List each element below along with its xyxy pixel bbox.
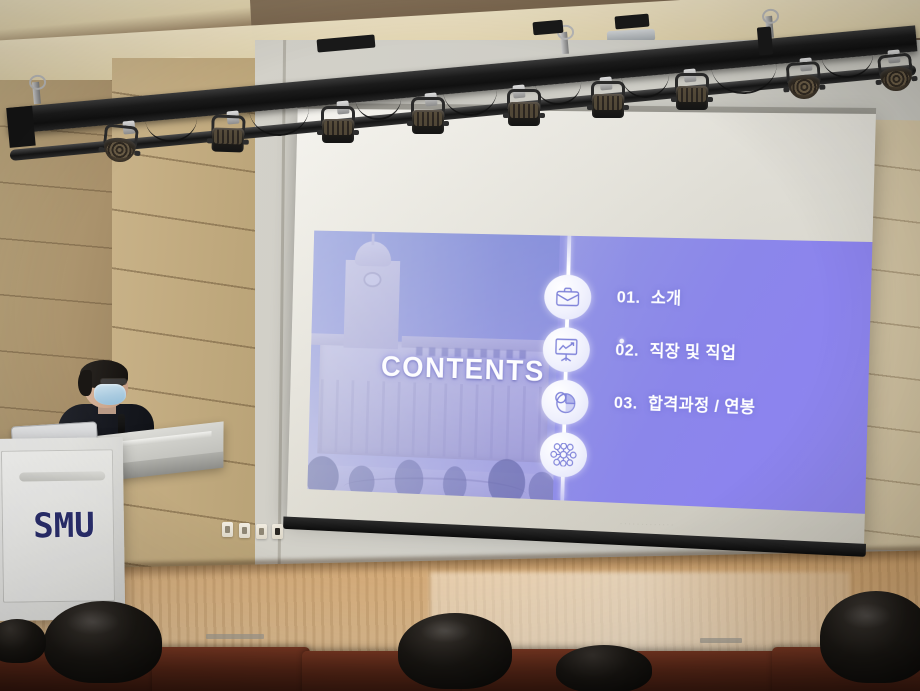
seat-row-label xyxy=(700,638,742,643)
contents-item-01[interactable]: 01.소개 xyxy=(617,283,682,309)
audience-head-highlight xyxy=(842,603,892,629)
projection-screen: CONTENTS xyxy=(287,109,876,544)
item-number: 02. xyxy=(615,340,639,360)
wall-data-port-icon[interactable] xyxy=(272,524,283,539)
podium-front-panel: SMU xyxy=(1,449,115,603)
briefcase-icon[interactable] xyxy=(544,274,592,320)
spotlight-icon xyxy=(672,73,712,115)
spotlight-icon xyxy=(588,81,628,123)
spotlight-icon xyxy=(874,52,918,98)
spotlight-icon xyxy=(504,89,544,131)
truss-joint-plate xyxy=(757,26,773,55)
projected-slide: CONTENTS xyxy=(307,231,872,514)
truss-cable-box xyxy=(532,20,563,36)
contents-item-03[interactable]: 03.합격과정 / 연봉 xyxy=(614,388,756,418)
wall-outlet-icon[interactable] xyxy=(222,522,233,537)
slide-title: CONTENTS xyxy=(381,351,546,389)
podium: SMU xyxy=(0,437,125,621)
item-label: 소개 xyxy=(651,288,682,307)
photo-trees xyxy=(307,434,560,500)
spotlight-icon xyxy=(408,97,448,139)
pie-chart-icon[interactable] xyxy=(541,379,589,425)
seat-back xyxy=(152,647,310,691)
face-mask-icon xyxy=(94,384,126,405)
item-number: 01. xyxy=(617,288,641,308)
podium-logo: SMU xyxy=(16,505,113,546)
item-label: 직장 및 직업 xyxy=(649,341,736,362)
audience-head-highlight xyxy=(420,619,472,643)
wall-outlet-icon[interactable] xyxy=(239,523,250,538)
podium-handle xyxy=(19,471,105,481)
audience-head xyxy=(556,645,652,691)
item-label: 합격과정 / 연봉 xyxy=(648,394,756,417)
cursor-dot xyxy=(619,339,624,344)
truss-hanger-icon xyxy=(560,32,569,55)
contents-item-02[interactable]: 02.직장 및 직업 xyxy=(615,336,737,364)
truss-hanger-icon xyxy=(32,82,41,105)
spotlight-icon xyxy=(318,106,358,148)
lecture-hall-photo: CONTENTS xyxy=(0,0,920,691)
item-number: 03. xyxy=(614,393,638,413)
presentation-chart-icon[interactable] xyxy=(542,327,590,373)
photo-tower-spire xyxy=(372,234,375,246)
presenter-hair-side xyxy=(78,370,92,396)
lighting-truss-end-plate xyxy=(6,106,36,148)
spotlight-icon xyxy=(207,114,248,157)
spotlight-icon xyxy=(98,123,142,169)
seat-row-label xyxy=(206,634,264,639)
spotlight-icon xyxy=(783,61,826,106)
audience-head-highlight xyxy=(66,609,120,635)
wall-outlet-icon[interactable] xyxy=(256,524,267,539)
